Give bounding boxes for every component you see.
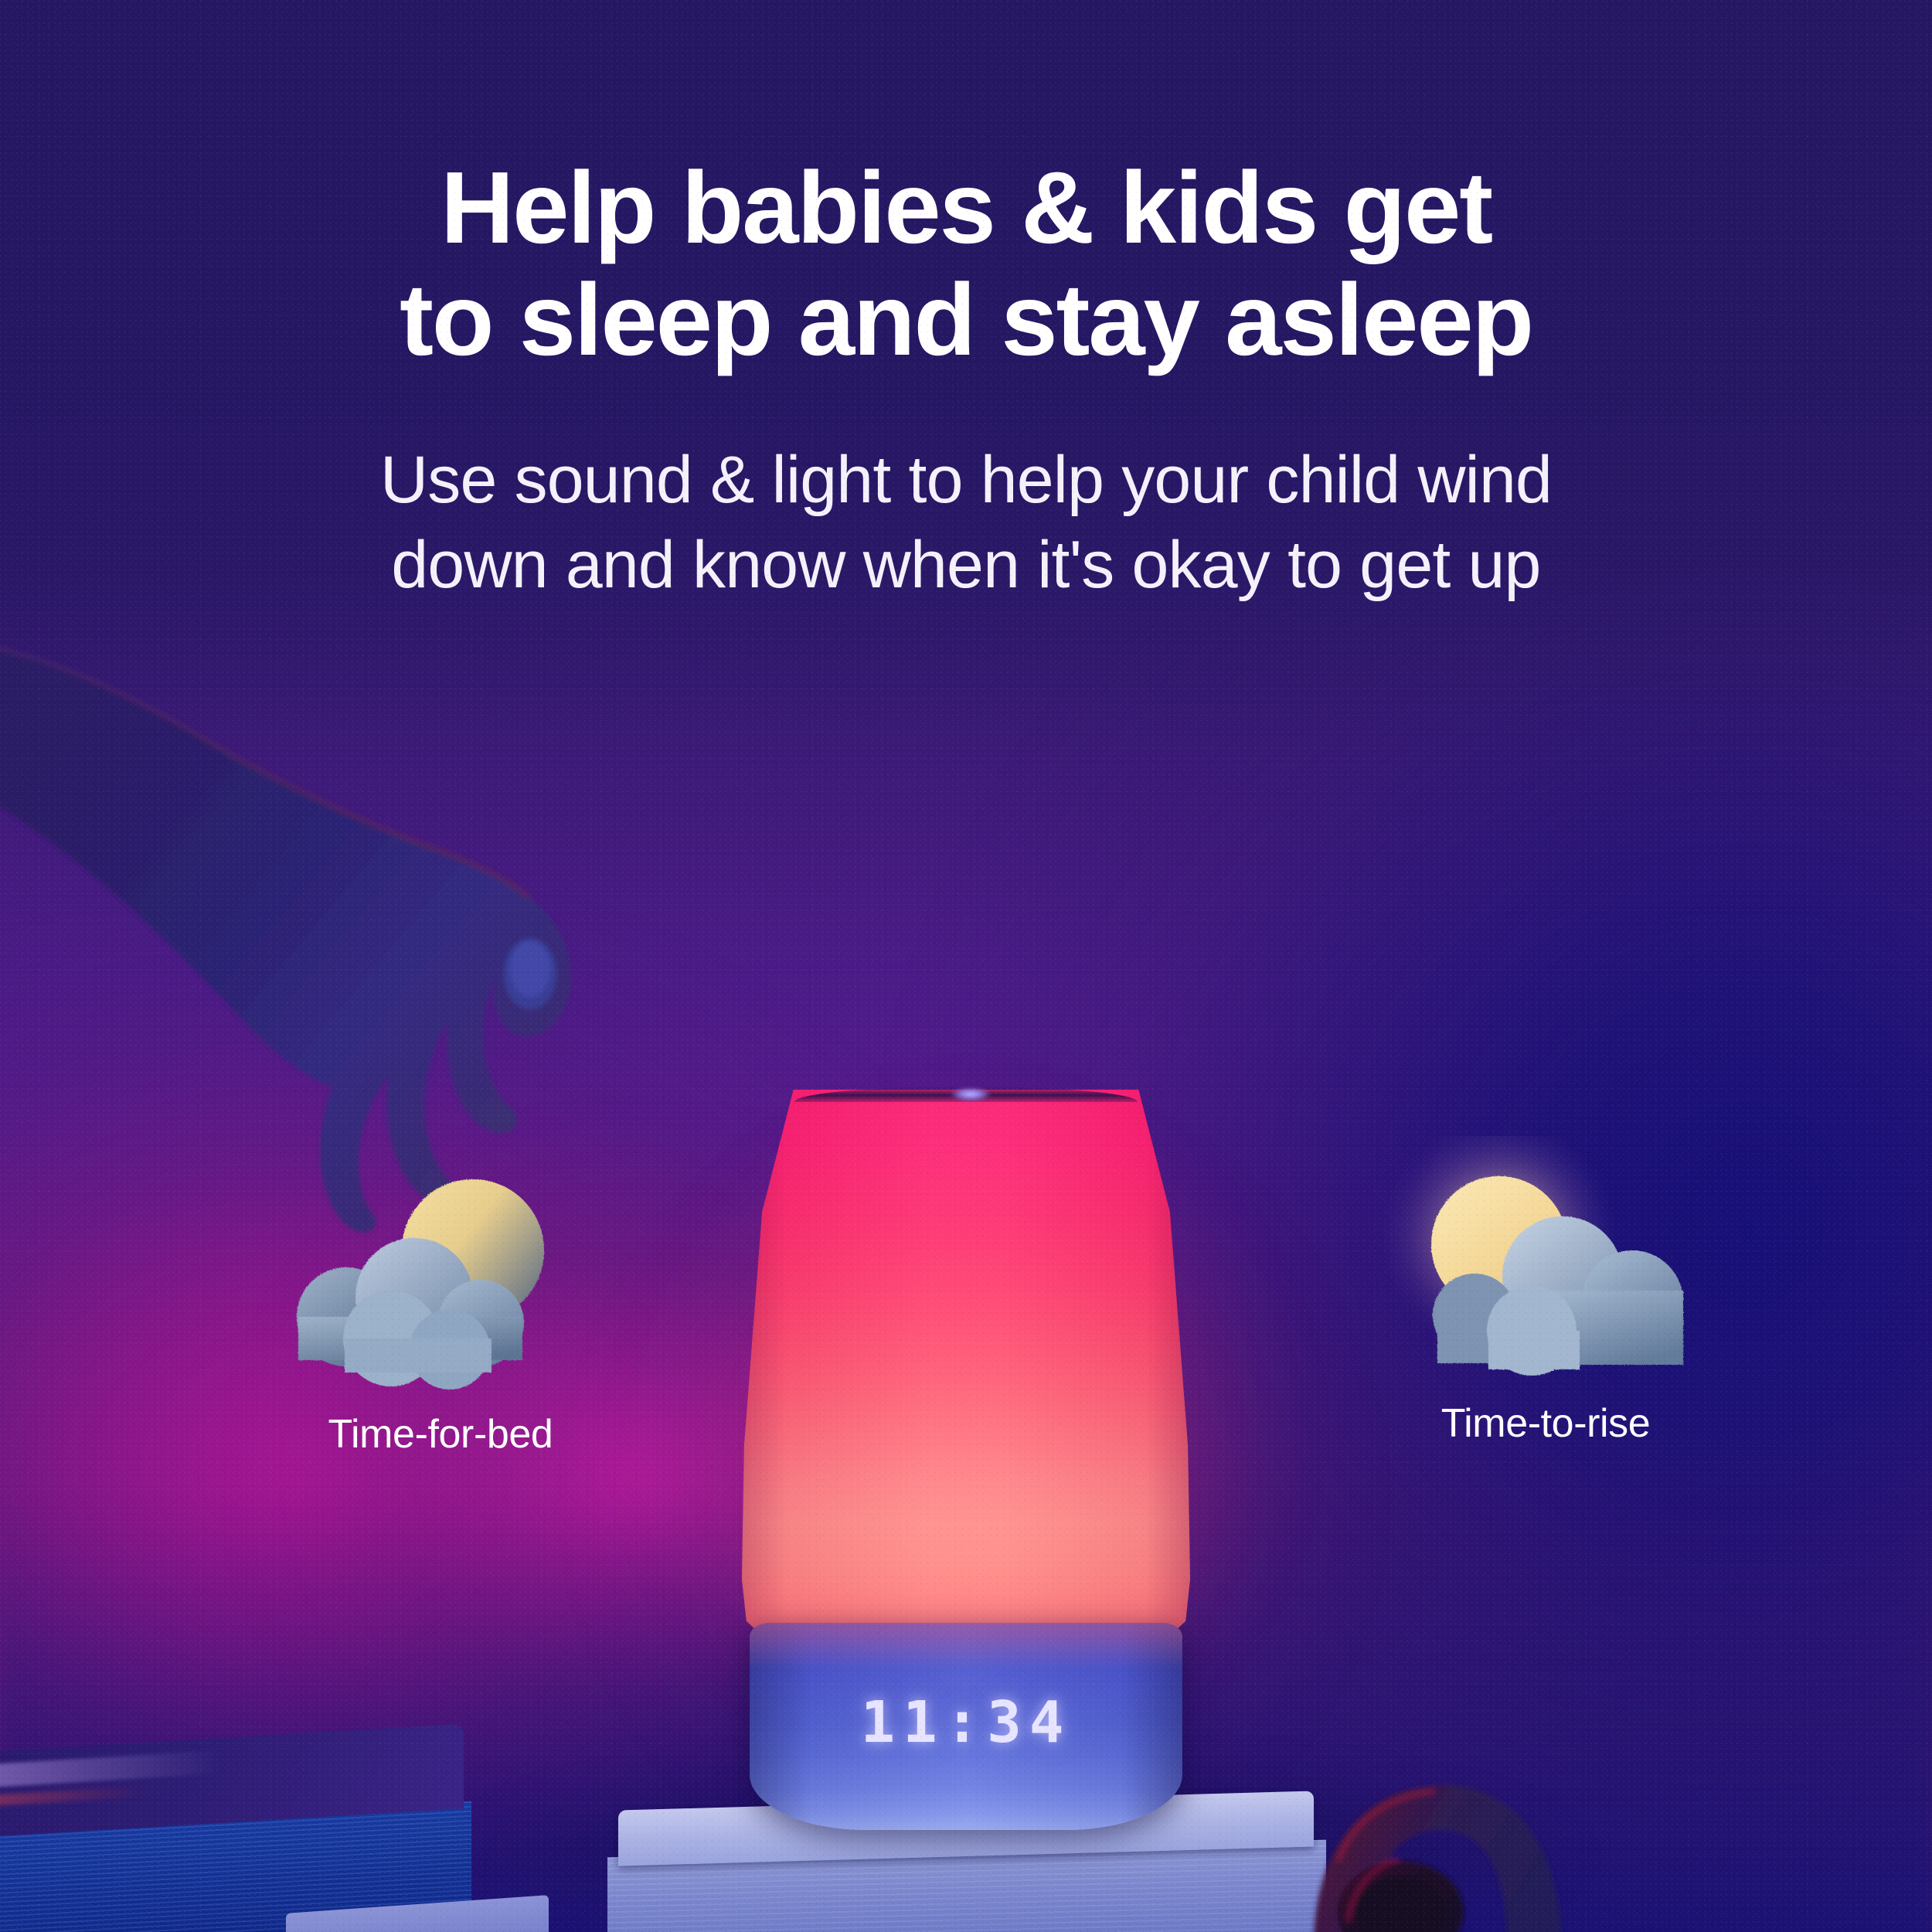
promo-image-canvas: Help babies & kids get to sleep and stay…	[0, 0, 1932, 1932]
clock-display: 11:34	[750, 1689, 1182, 1756]
book-cover-title-blur	[0, 1750, 219, 1789]
device-base[interactable]: 11:34	[750, 1623, 1182, 1830]
device-light-shade[interactable]	[742, 1090, 1190, 1646]
headline-line-2: to sleep and stay asleep	[0, 264, 1932, 376]
feature-time-to-rise: Time-to-rise	[1360, 1136, 1731, 1447]
book-stack-left	[0, 1739, 510, 1932]
headline-line-1: Help babies & kids get	[440, 151, 1492, 264]
device-indicator-light-icon	[950, 1088, 992, 1100]
feature-label-time-to-rise: Time-to-rise	[1360, 1400, 1731, 1447]
subheadline-line-2: down and know when it's okay to get up	[0, 522, 1932, 607]
subheadline-line-1: Use sound & light to help your child win…	[380, 443, 1552, 517]
page-title: Help babies & kids get to sleep and stay…	[0, 151, 1932, 376]
sun-behind-clouds-icon	[1360, 1136, 1731, 1383]
page-subtitle: Use sound & light to help your child win…	[0, 437, 1932, 607]
moon-behind-clouds-icon	[255, 1159, 626, 1391]
book-cover-subtitle-blur	[0, 1786, 147, 1806]
marketing-copy: Help babies & kids get to sleep and stay…	[0, 0, 1932, 608]
sound-machine-night-light[interactable]: 11:34	[726, 1090, 1206, 1862]
feature-label-time-for-bed: Time-for-bed	[255, 1411, 626, 1458]
feature-time-for-bed: Time-for-bed	[255, 1159, 626, 1458]
headphones-icon	[1283, 1770, 1716, 1932]
